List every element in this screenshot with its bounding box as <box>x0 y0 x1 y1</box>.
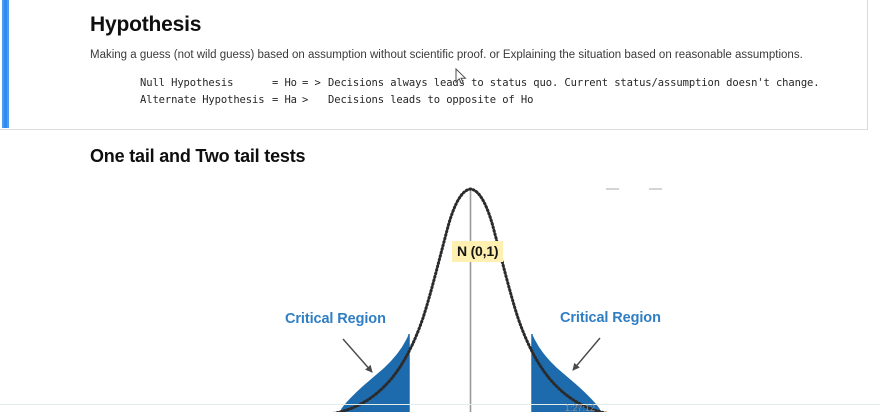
card-accent-bar-inner <box>4 0 7 128</box>
document-card: Hypothesis Making a guess (not wild gues… <box>0 0 868 130</box>
null-hypothesis-name: Null Hypothesis <box>140 77 272 89</box>
section-heading: One tail and Two tail tests <box>90 146 305 167</box>
tick-mark-icon-2 <box>649 188 662 190</box>
alternate-hypothesis-description: Decisions leads to opposite of Ho <box>328 94 533 106</box>
bell-curve-svg <box>0 178 880 412</box>
alternate-hypothesis-name: Alternate Hypothesis <box>140 94 272 106</box>
alternate-hypothesis-arrow: > <box>302 94 328 106</box>
page-title: Hypothesis <box>90 13 201 37</box>
critical-region-label-left: Critical Region <box>285 311 386 327</box>
null-hypothesis-row: Null Hypothesis= Ho= >Decisions always l… <box>140 77 820 89</box>
null-hypothesis-description: Decisions always leads to status quo. Cu… <box>328 77 820 89</box>
distribution-label: N (0,1) <box>452 241 503 262</box>
null-hypothesis-symbol: = Ho <box>272 77 302 89</box>
critical-region-fill-left <box>340 334 409 412</box>
critical-region-fill-right <box>532 334 601 412</box>
alternate-hypothesis-row: Alternate Hypothesis= Ha>Decisions leads… <box>140 94 533 106</box>
tick-mark-icon-1 <box>606 188 619 190</box>
normal-distribution-chart <box>0 178 880 412</box>
alternate-hypothesis-symbol: = Ha <box>272 94 302 106</box>
null-hypothesis-arrow: = > <box>302 77 328 89</box>
critical-region-label-right: Critical Region <box>560 310 661 326</box>
hypothesis-description: Making a guess (not wild guess) based on… <box>90 49 803 61</box>
chart-baseline <box>0 404 880 405</box>
